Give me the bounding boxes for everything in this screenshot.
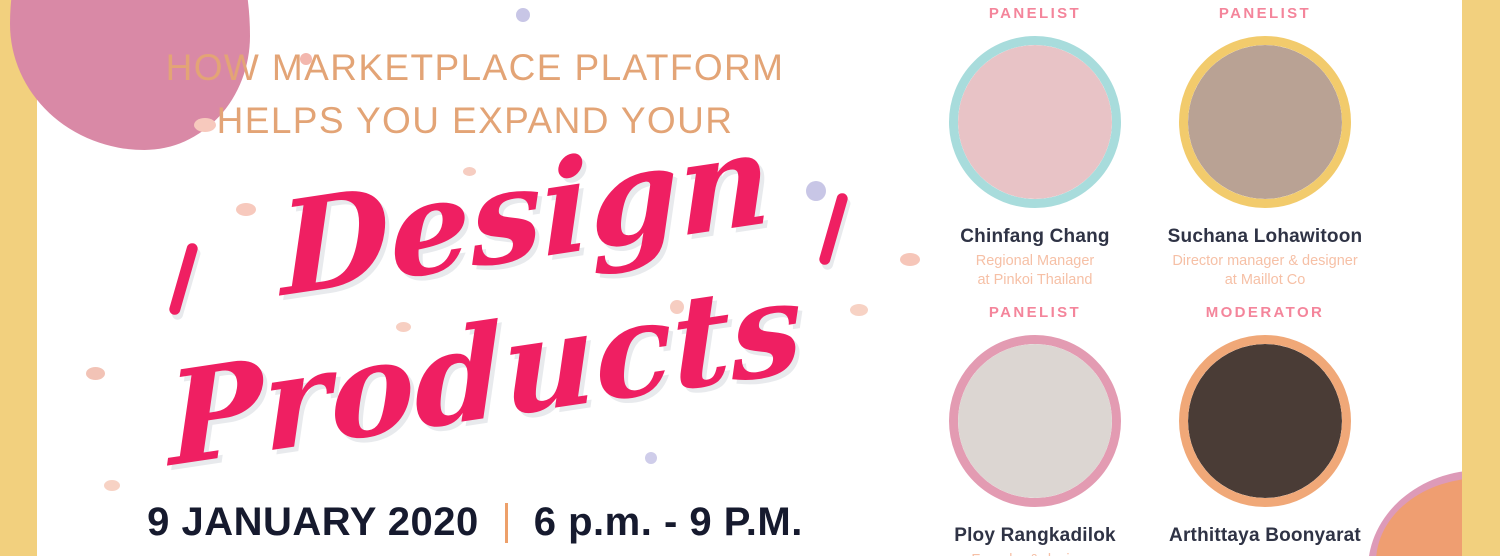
speaker-role-label: PANELIST — [920, 304, 1150, 321]
quote-tick-left-icon — [168, 242, 199, 316]
avatar — [949, 36, 1121, 208]
event-time: 6 p.m. - 9 P.M. — [534, 500, 803, 545]
speaker-name: Suchana Lohawitoon — [1150, 226, 1380, 248]
event-datetime: 9 JANUARY 2020 6 p.m. - 9 P.M. — [60, 500, 890, 545]
confetti-dot — [86, 367, 105, 380]
speakers-grid: PANELISTChinfang ChangRegional Manager a… — [920, 0, 1390, 556]
speaker-card[interactable]: PANELISTChinfang ChangRegional Manager a… — [920, 5, 1150, 291]
speaker-name: Ploy Rangkadilok — [920, 525, 1150, 547]
speaker-card[interactable]: PANELISTPloy RangkadilokFounder & design… — [920, 304, 1150, 556]
avatar — [949, 335, 1121, 507]
speaker-name: Arthittaya Boonyarat — [1150, 525, 1380, 547]
confetti-dot — [516, 8, 530, 22]
datetime-divider — [505, 503, 508, 543]
speaker-card[interactable]: MODERATORArthittaya Boonyarat — [1150, 304, 1380, 551]
confetti-dot — [104, 480, 120, 491]
avatar-photo — [1188, 344, 1342, 498]
speaker-role-label: PANELIST — [1150, 5, 1380, 22]
speaker-title: Regional Manager at Pinkoi Thailand — [920, 252, 1150, 291]
event-banner: HOW MARKETPLACE PLATFORM HELPS YOU EXPAN… — [0, 0, 1500, 556]
speaker-role-label: PANELIST — [920, 5, 1150, 22]
speaker-title: Founder & designer — [920, 551, 1150, 556]
speaker-name: Chinfang Chang — [920, 226, 1150, 248]
speaker-title: Director manager & designer at Maillot C… — [1150, 252, 1380, 291]
avatar-photo — [958, 45, 1112, 199]
speaker-card[interactable]: PANELISTSuchana LohawitoonDirector manag… — [1150, 5, 1380, 291]
event-date: 9 JANUARY 2020 — [147, 500, 479, 545]
avatar — [1179, 36, 1351, 208]
avatar-photo — [1188, 45, 1342, 199]
right-frame-bar-overlay — [1462, 0, 1500, 492]
speaker-role-label: MODERATOR — [1150, 304, 1380, 321]
quote-tick-right-icon — [818, 192, 849, 266]
script-title-group: Design Products — [130, 150, 920, 490]
avatar-photo — [958, 344, 1112, 498]
avatar — [1179, 335, 1351, 507]
